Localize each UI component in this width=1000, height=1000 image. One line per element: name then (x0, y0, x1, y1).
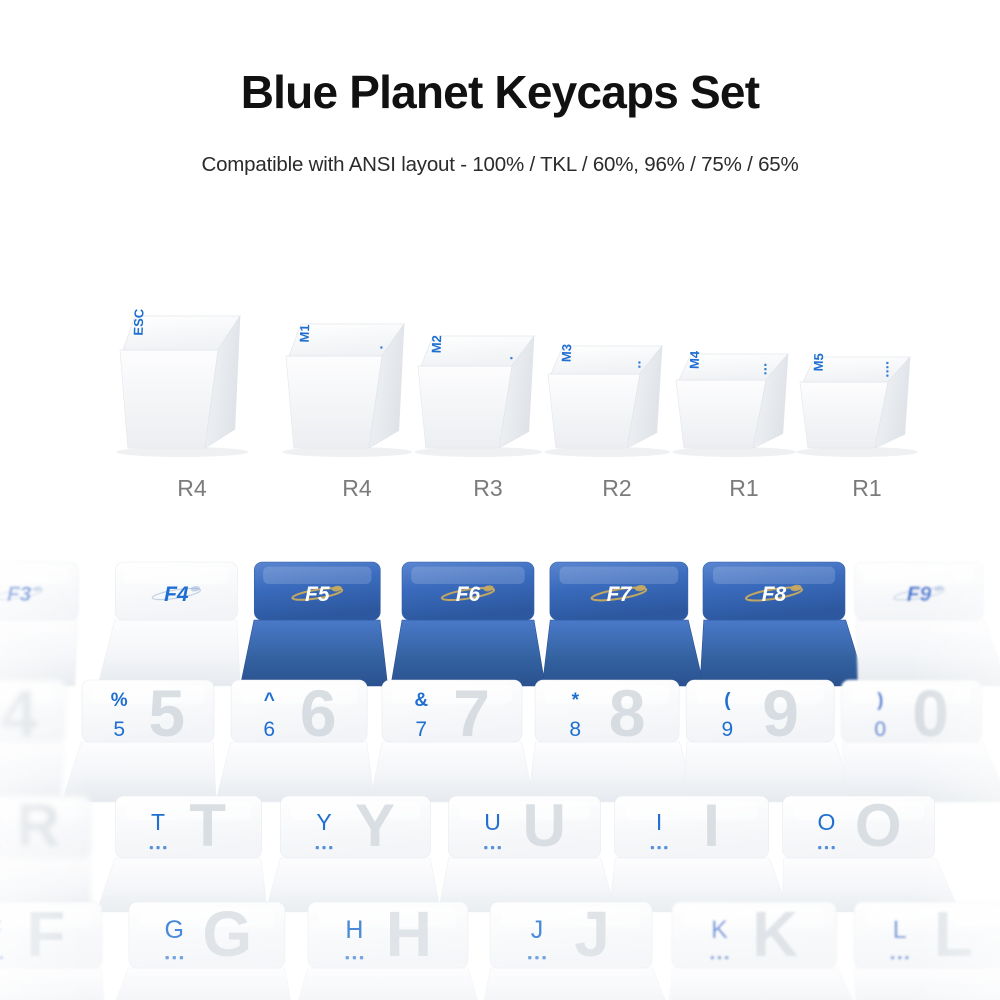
keycap-f6: F6 (391, 562, 545, 686)
keycap-front-face (286, 356, 382, 448)
keycap-ghost-legend: F (26, 898, 65, 970)
keycap-shift-legend: ( (724, 690, 731, 711)
keycap-k: KK (668, 898, 860, 1000)
keycap-shift-legend: ^ (264, 690, 275, 711)
keycap-6: 6^6 (215, 676, 374, 802)
keycap-legend: K (711, 916, 728, 944)
keycap-specular (0, 567, 70, 584)
keycap-specular (392, 685, 512, 704)
keycap-i: II (609, 792, 789, 912)
keycap-specular (697, 685, 824, 704)
keycap-skirt (294, 968, 481, 1000)
keycap-ghost-legend: L (934, 898, 973, 970)
number-row: 4$45%56^67&78*89(90)0 (0, 676, 1000, 802)
keycap-legend: L (893, 916, 907, 944)
legend-dots (0, 956, 3, 959)
keycap-legend: T (151, 809, 165, 835)
keycap-skirt (0, 968, 105, 1000)
keycap-l: LL (854, 898, 1000, 1000)
keycap-ghost-legend: 5 (148, 676, 185, 750)
keycap-ghost-legend: R (17, 792, 60, 859)
profile-row-label-0: R4 (152, 475, 232, 502)
keycap-r: RR (0, 792, 91, 912)
keycap-legend: 8 (569, 718, 581, 741)
keycap-ghost-legend: Y (355, 792, 395, 859)
keycap-legend: F9 (907, 583, 932, 606)
keycap-legend: J (531, 916, 544, 944)
keycap-legend: H (345, 916, 363, 944)
letter-row-top: RRTTYYUUIIOO (0, 792, 960, 912)
keycap-front-face (548, 374, 640, 448)
keycap-specular (263, 567, 371, 584)
keycap-legend: 6 (263, 718, 275, 741)
keycap-j: JJ (481, 898, 671, 1000)
row-indicator-dot (886, 362, 888, 364)
keycap-legend: M5 (811, 353, 827, 372)
keycap-legend: F5 (305, 583, 330, 606)
keycap-legend: ESC (131, 308, 147, 336)
keycap-legend: M1 (297, 324, 313, 343)
keycap-ghost-legend: 0 (912, 676, 949, 750)
keycap-ghost-legend: 6 (300, 676, 337, 750)
keycap-specular (625, 801, 757, 820)
keycap-f7: F7 (542, 562, 703, 686)
keycap-ghost-legend: 4 (1, 676, 38, 750)
keycap-u: UU (438, 792, 616, 912)
keycap-ghost-legend: 9 (762, 676, 799, 750)
keycap-legend: O (818, 809, 836, 835)
keycap-legend: 9 (722, 718, 734, 741)
keycap-legend: Y (316, 809, 331, 835)
keycap-skirt (856, 968, 1000, 1000)
legend-dots (165, 956, 183, 959)
keycap-f: FF (0, 898, 105, 1000)
page-subtitle: Compatible with ANSI layout - 100% / TKL… (0, 153, 1000, 177)
keycap-legend: F8 (762, 583, 787, 606)
keycap-t: TT (97, 792, 268, 912)
keycap-legend: 5 (113, 718, 125, 741)
keycap-ghost-legend: T (189, 792, 226, 859)
profile-keycap-m1: M1 (282, 324, 412, 457)
keycap-legend: F3 (7, 583, 32, 606)
keycap-ghost-legend: U (523, 792, 566, 859)
profile-row-label-1: R4 (317, 475, 397, 502)
keycap-legend: F4 (164, 583, 189, 606)
keyboard-closeup: F3F4F5F6F7F8F94$45%56^67&78*89(90)0RRTTY… (0, 540, 1000, 1000)
legend-dots (651, 846, 668, 849)
keycap-f5: F5 (240, 562, 387, 686)
letter-row-home: FFGGHHJJKKLL (0, 898, 1000, 1000)
keycap-shift-legend: ) (877, 690, 883, 711)
keycap-h: HH (294, 898, 481, 1000)
profile-row-label-3: R2 (577, 475, 657, 502)
legend-dots (484, 846, 501, 849)
legend-dots (528, 956, 546, 959)
row-indicator-dot (638, 366, 640, 368)
keycap-front-face (676, 380, 766, 448)
keycap-specular (501, 907, 640, 927)
keycap-legend: I (656, 809, 662, 835)
legend-dots (346, 956, 364, 959)
header: Blue Planet Keycaps Set Compatible with … (0, 0, 1000, 177)
keycap-f9: F9 (855, 562, 1000, 686)
keycap-legend: 7 (415, 718, 427, 741)
row-indicator-dot (638, 361, 640, 363)
keycap-specular (713, 567, 835, 584)
page-title: Blue Planet Keycaps Set (0, 66, 1000, 119)
profile-row-label-5: R1 (827, 475, 907, 502)
function-row: F3F4F5F6F7F8F9 (0, 562, 1000, 686)
legend-dots (711, 956, 729, 959)
keycap-specular (545, 685, 669, 704)
keycap-legend: U (484, 809, 501, 835)
keycap-5: 5%5 (62, 676, 216, 802)
keycap-ghost-legend: G (202, 898, 252, 970)
profile-keycap-esc: ESC (116, 308, 248, 457)
row-indicator-dot (764, 364, 766, 366)
legend-dots (818, 846, 835, 849)
keycap-legend: G (165, 916, 184, 944)
row-indicator-dot (886, 375, 888, 377)
keycap-f3: F3 (0, 562, 78, 686)
profile-row-label-2: R3 (448, 475, 528, 502)
keycap-shift-legend: * (572, 690, 580, 711)
keycap-specular (411, 567, 525, 584)
keyboard-illustration: F3F4F5F6F7F8F94$45%56^67&78*89(90)0RRTTY… (0, 540, 1000, 1000)
keycap-specular (865, 907, 1000, 927)
keycap-legend: F6 (456, 583, 481, 606)
row-indicator-dot (764, 372, 766, 374)
profile-sample-row: ESCM1M2M3M4M5 R4R4R3R2R1R1 (0, 330, 1000, 510)
profile-row-label-4: R1 (704, 475, 784, 502)
keycap-ghost-legend: I (703, 792, 720, 859)
keycap-8: 8*8 (528, 676, 696, 802)
profile-keycap-m5: M5 (797, 353, 918, 457)
keycap-front-face (800, 382, 888, 448)
product-image-canvas: Blue Planet Keycaps Set Compatible with … (0, 0, 1000, 1000)
keycap-shift-legend: % (111, 690, 128, 711)
keycap-front-face (418, 366, 512, 448)
profile-keycap-m4: M4 (673, 350, 796, 457)
keycap-9: 9(9 (683, 676, 856, 802)
keycap-7: 7&7 (370, 676, 534, 802)
keycap-ghost-legend: K (752, 898, 798, 970)
keycap-skirt (481, 968, 671, 1000)
keycap-f8: F8 (700, 562, 866, 686)
row-indicator-dot (764, 368, 766, 370)
profile-keycap-m2: M2 (415, 335, 543, 457)
row-indicator-dot (886, 370, 888, 372)
keycap-ghost-legend: O (855, 792, 902, 859)
keycap-ghost-legend: 8 (609, 676, 646, 750)
legend-dots (316, 846, 333, 849)
keycap-skirt (111, 968, 294, 1000)
keycap-ghost-legend: J (574, 898, 610, 970)
profile-keycap-m3: M3 (545, 344, 670, 457)
keycap-g: GG (111, 898, 294, 1000)
keycap-legend: F7 (607, 583, 633, 606)
keycap-specular (124, 567, 229, 584)
keycap-shift-legend: & (414, 690, 428, 711)
keycap-4: 4$4 (0, 676, 65, 802)
keycap-f4: F4 (98, 562, 241, 686)
keycap-legend: M3 (559, 344, 575, 363)
keycap-front-face (120, 350, 218, 448)
row-indicator-dot (510, 357, 512, 359)
keycap-ghost-legend: 7 (453, 676, 490, 750)
keycap-o: OO (782, 792, 960, 912)
keycap-skirt (668, 968, 860, 1000)
keycap-legend: F (0, 916, 2, 944)
keycap-specular (864, 567, 974, 584)
keycap-legend: M4 (687, 350, 703, 369)
keycap-skirt (215, 742, 374, 802)
keycap-y: YY (265, 792, 441, 912)
keycap-legend: M2 (429, 335, 445, 354)
row-indicator-dot (380, 346, 382, 348)
legend-dots (891, 956, 909, 959)
row-indicator-dot (886, 366, 888, 368)
keycap-0: 0)0 (841, 676, 1000, 802)
keycap-ghost-legend: H (386, 898, 432, 970)
keycap-legend: 0 (874, 718, 886, 741)
legend-dots (150, 846, 167, 849)
keycap-specular (560, 567, 679, 584)
